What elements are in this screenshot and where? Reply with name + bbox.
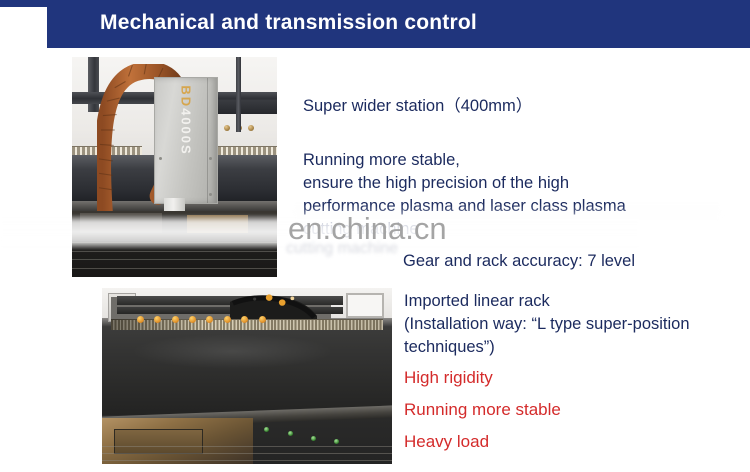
stability-line-2: ensure the high precision of the high	[303, 172, 626, 195]
highlight-running-more-stable: Running more stable	[404, 398, 561, 421]
header-left-notch	[0, 7, 47, 49]
machine-model-label: BD4000S	[178, 85, 193, 155]
table-slat	[72, 251, 277, 252]
rack-line-1: Imported linear rack	[404, 290, 690, 313]
beam-highlight	[131, 334, 334, 369]
table-slat	[72, 268, 277, 269]
rack-roller	[172, 316, 179, 323]
control-box-screw	[209, 193, 212, 196]
control-box-screw	[159, 157, 162, 160]
stability-line-1: Running more stable,	[303, 149, 626, 172]
table-slat	[102, 446, 392, 447]
rack-roller	[137, 316, 144, 323]
control-box: BD4000S	[154, 77, 218, 204]
table-slat	[72, 259, 277, 260]
rack-line-2: (Installation way: “L type super-positio…	[404, 313, 690, 336]
table-slat	[102, 453, 392, 454]
page-title: Mechanical and transmission control	[100, 6, 477, 40]
highlight-high-rigidity: High rigidity	[404, 366, 493, 389]
table-slat	[102, 460, 392, 461]
vertical-post	[236, 57, 241, 132]
linear-rack-gantry-photo	[102, 288, 392, 464]
rack-roller	[259, 316, 266, 323]
gear-accuracy-text: Gear and rack accuracy: 7 level	[403, 250, 635, 273]
bed-plate	[114, 429, 203, 454]
highlight-heavy-load: Heavy load	[404, 430, 489, 453]
super-station-text: Super wider station（400mm）	[303, 95, 532, 118]
rack-roller	[224, 316, 231, 323]
rail-marker	[288, 431, 293, 436]
imported-rack-text: Imported linear rack (Installation way: …	[404, 290, 690, 359]
rack-line-3: techniques”)	[404, 336, 690, 359]
machine-model-prefix: BD	[178, 85, 193, 108]
slide-page: Mechanical and transmission control	[0, 0, 750, 472]
control-box-seam	[207, 78, 208, 203]
control-box-screw	[209, 157, 212, 160]
rail-bolt	[224, 125, 230, 131]
rail-marker	[311, 436, 316, 441]
wall-panel	[346, 293, 385, 318]
machine-model-number: 4000S	[178, 108, 193, 156]
watermark-text: en.china.cn	[288, 211, 447, 247]
